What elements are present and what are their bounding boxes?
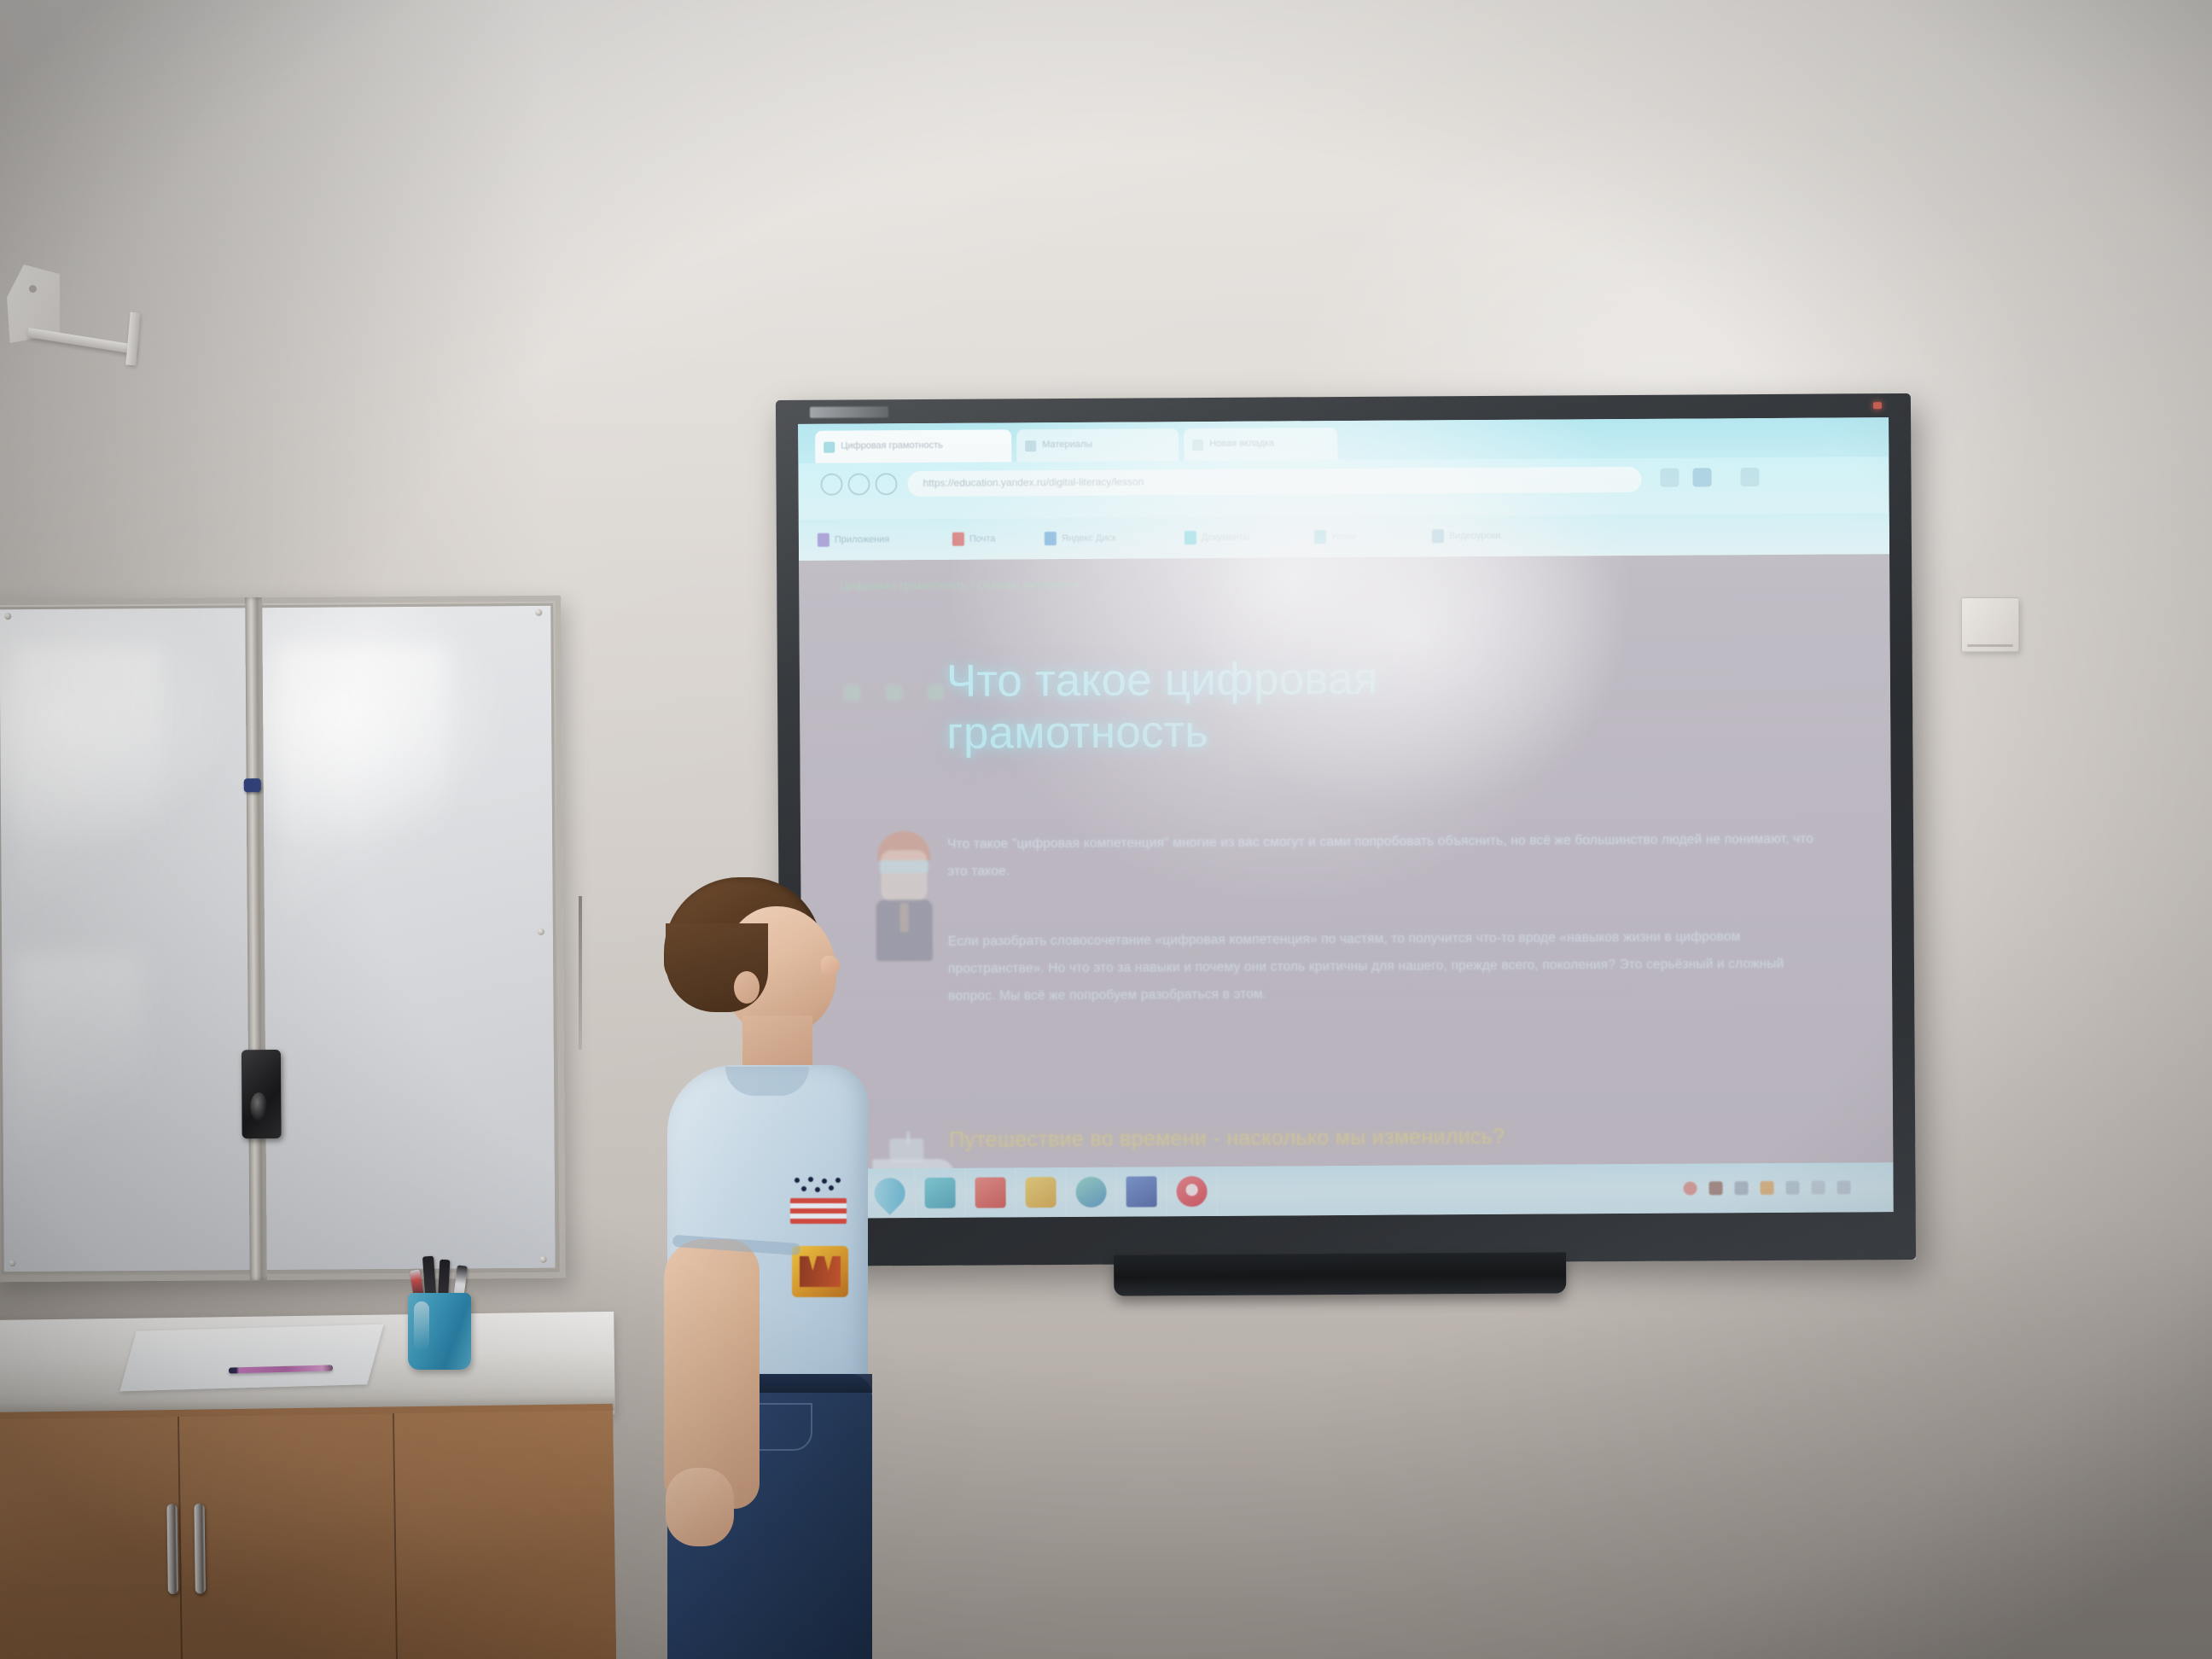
tab-label: Цифровая грамотность	[841, 440, 943, 451]
play-store-icon[interactable]	[1016, 1167, 1066, 1217]
bookmark-favicon	[1432, 529, 1444, 543]
notification-icon[interactable]	[1684, 1181, 1697, 1195]
light-switch[interactable]	[1961, 597, 2019, 652]
wall-mount-bracket	[7, 265, 84, 367]
wooden-cabinet	[0, 1404, 616, 1659]
student-boy	[623, 870, 930, 1659]
presentation-page: Цифровая грамотность / Основы интернета …	[799, 554, 1893, 1169]
breadcrumb: Цифровая грамотность / Основы интернета	[840, 578, 1079, 592]
bookmark-item[interactable]: Документы	[1185, 529, 1250, 546]
blue-magnet[interactable]	[244, 778, 261, 792]
reload-icon[interactable]	[847, 473, 870, 495]
ear	[734, 971, 760, 1004]
speaker-icon[interactable]	[1786, 1181, 1800, 1195]
classroom-scene: Цифровая грамотность Материалы Новая вкл…	[0, 0, 2212, 1659]
frame-screw	[538, 928, 544, 935]
bookmark-item[interactable]: Видеоуроки	[1432, 527, 1501, 544]
search-icon[interactable]	[1660, 469, 1679, 487]
browser-tabstrip: Цифровая грамотность Материалы Новая вкл…	[798, 417, 1889, 463]
network-icon[interactable]	[1709, 1181, 1723, 1195]
bookmark-favicon	[1045, 532, 1057, 545]
bookmark-favicon	[818, 533, 829, 547]
bookmark-label: Уроки	[1331, 532, 1357, 542]
circle-app-icon[interactable]	[1066, 1167, 1116, 1217]
adobe-reader-icon[interactable]	[965, 1167, 1016, 1217]
cloud-icon[interactable]	[1735, 1181, 1749, 1195]
profile-icon[interactable]	[1692, 468, 1711, 486]
home-icon[interactable]	[875, 473, 897, 495]
system-tray	[1684, 1180, 1894, 1196]
tab-favicon	[824, 442, 835, 453]
whiteboard-glare-2	[12, 953, 144, 1192]
flag-stars	[790, 1176, 847, 1196]
yandex-glyph	[1176, 1176, 1207, 1207]
magnetic-whiteboard	[0, 596, 566, 1283]
slide-paragraph-1: Что такое "цифровая компетенция" многие …	[947, 826, 1826, 886]
cabinet-handle[interactable]	[166, 1504, 178, 1594]
address-bar[interactable]: https://education.yandex.ru/digital-lite…	[907, 467, 1641, 497]
word-glyph	[1126, 1176, 1156, 1207]
board-clip[interactable]	[242, 1050, 282, 1138]
whiteboard-glare	[15, 648, 163, 953]
interactive-whiteboard: Цифровая грамотность Материалы Новая вкл…	[776, 393, 1916, 1266]
menu-icon[interactable]	[1740, 468, 1759, 486]
bookmark-label: Почта	[969, 534, 996, 544]
slide-subheading: Путешествие во времени - насколько мы из…	[949, 1121, 1538, 1155]
hand	[666, 1468, 734, 1546]
browser-tab[interactable]: Новая вкладка	[1184, 428, 1337, 461]
cabinet-handle[interactable]	[194, 1504, 205, 1594]
bracket-screw	[29, 285, 37, 293]
bookmark-item[interactable]: Уроки	[1314, 528, 1357, 545]
cabinet-door[interactable]	[179, 1413, 398, 1659]
dot-icon	[886, 684, 902, 701]
bookmark-item[interactable]: Почта	[952, 531, 996, 548]
yellow-emblem-graphic	[792, 1246, 848, 1297]
bookmark-favicon	[1314, 530, 1326, 544]
paper-sheet	[119, 1324, 383, 1392]
bookmark-label: Документы	[1202, 533, 1250, 543]
slide-paragraph-2: Если разобрать словосочетание «цифровая …	[948, 923, 1828, 1010]
board-pen-tray[interactable]	[1114, 1252, 1566, 1295]
tab-label: Материалы	[1042, 439, 1092, 450]
chevron-up-icon[interactable]	[1837, 1180, 1851, 1194]
yandex-browser-icon[interactable]	[1167, 1167, 1217, 1216]
frame-screw	[535, 609, 542, 616]
bookmark-label: Приложения	[835, 534, 889, 544]
dot-icon	[844, 684, 860, 701]
power-led-icon	[1873, 402, 1882, 409]
whiteboard-panel-left	[0, 605, 259, 1274]
dot-icon	[928, 684, 944, 701]
shield-icon[interactable]	[1761, 1181, 1774, 1195]
board-cable	[579, 896, 582, 1050]
bookmark-favicon	[952, 533, 964, 546]
adobe-glyph	[975, 1177, 1005, 1208]
browser-window: Цифровая грамотность Материалы Новая вкл…	[798, 417, 1889, 561]
windows-taskbar	[802, 1162, 1893, 1219]
bookmark-favicon	[1185, 531, 1196, 544]
frame-screw	[9, 1260, 16, 1266]
bookmarks-bar: Приложения Почта Яндекс Диск Документы	[799, 513, 1889, 561]
address-bar-value: https://education.yandex.ru/digital-lite…	[923, 475, 1144, 489]
board-screen[interactable]: Цифровая грамотность Материалы Новая вкл…	[798, 417, 1894, 1219]
nose	[821, 956, 840, 975]
whiteboard-glare-3	[279, 646, 449, 952]
cabinet-door[interactable]	[0, 1417, 183, 1659]
browser-tab[interactable]: Материалы	[1016, 428, 1179, 462]
usa-flag-graphic	[790, 1176, 847, 1224]
back-icon[interactable]	[820, 474, 842, 496]
smart-board-logo	[810, 406, 888, 418]
tab-favicon	[1192, 439, 1203, 451]
circle-glyph	[1075, 1177, 1106, 1208]
whiteboard-panel-right	[259, 603, 557, 1272]
cabinet-door[interactable]	[394, 1411, 616, 1659]
bookmark-label: Яндекс Диск	[1062, 533, 1116, 544]
bookmark-item[interactable]: Приложения	[818, 531, 889, 549]
play-glyph	[1025, 1177, 1056, 1208]
flag-stripes	[790, 1198, 847, 1224]
frame-screw	[540, 1256, 547, 1263]
tab-label: Новая вкладка	[1209, 439, 1274, 449]
frame-screw	[4, 613, 11, 620]
tab-favicon	[1025, 440, 1036, 451]
bookmark-item[interactable]: Яндекс Диск	[1045, 530, 1116, 548]
bookmark-label: Видеоуроки	[1449, 531, 1501, 541]
bullet-dots	[844, 684, 944, 701]
browser-tab[interactable]: Цифровая грамотность	[815, 429, 1011, 463]
blue-pen-cup[interactable]	[408, 1293, 471, 1370]
word-icon[interactable]	[1116, 1167, 1167, 1216]
battery-icon[interactable]	[1812, 1181, 1825, 1195]
slide-title: Что такое цифровая грамотность	[946, 652, 1493, 760]
